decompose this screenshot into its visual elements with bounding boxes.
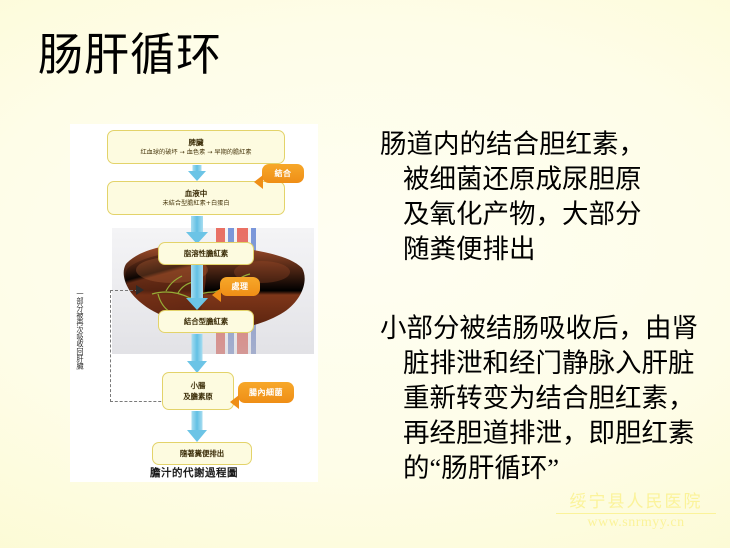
callout-tail-icon xyxy=(212,288,221,302)
diagram-box-spleen: 脾臟 红血球的破坏 → 血色素 → 早期的膽紅素 xyxy=(107,130,285,164)
paragraph1-line-3: 及氧化产物，大部分 xyxy=(380,197,692,232)
recycle-path-bottom xyxy=(110,401,166,402)
recycle-path-vertical xyxy=(110,290,111,402)
diagram-box-feces-excretion: 隨著糞便排出 xyxy=(152,442,252,465)
bile-metabolism-diagram: 一部分被再次吸收回肝臟 脾臟 红血球的破坏 → 血色素 → 早期的膽紅素 xyxy=(70,124,318,482)
intestine-box-subtitle: 及膽素原 xyxy=(183,391,213,402)
lipophilic-box-title: 脂溶性膽紅素 xyxy=(184,248,228,259)
diagram-box-conjugated-bilirubin: 結合型膽紅素 xyxy=(158,310,254,333)
spleen-box-title: 脾臟 xyxy=(189,137,204,148)
paragraph1-line-1: 肠道内的结合胆红素， xyxy=(380,127,692,162)
paragraph2-line-3: 重新转变为结合胆红素， xyxy=(380,381,692,416)
recycle-path-label: 一部分被再次吸收回肝臟 xyxy=(76,290,85,369)
callout-processing-label: 處理 xyxy=(232,281,249,292)
arrow-blood-to-liver xyxy=(186,216,208,244)
diagram-box-lipophilic-bilirubin: 脂溶性膽紅素 xyxy=(158,242,254,265)
arrow-liver-to-intestine xyxy=(186,334,208,373)
blood-box-title: 血液中 xyxy=(185,188,208,199)
callout-tail-icon xyxy=(230,395,239,409)
paragraph1-line-2: 被细菌还原成尿胆原 xyxy=(380,162,692,197)
paragraph2-line-4: 再经胆道排泄，即胆红素 xyxy=(380,416,692,451)
diagram-caption: 膽汁的代謝過程圖 xyxy=(70,465,318,480)
callout-gut-bacteria-label: 腸內細菌 xyxy=(249,387,283,398)
blood-box-subtitle: 未結合型膽紅素+白蛋白 xyxy=(162,199,229,209)
slide-canvas: 肠肝循环 肠道内的结合胆红素， 被细菌还原成尿胆原 及氧化产物，大部分 随粪便排… xyxy=(0,0,730,548)
arrow-intestine-to-feces xyxy=(186,411,208,442)
callout-processing: 處理 xyxy=(220,277,260,296)
intestine-box-title: 小腸 xyxy=(191,380,206,391)
watermark-url: www.snrmyy.cn xyxy=(556,515,716,531)
recycle-arrow-icon xyxy=(136,285,144,295)
paragraph1-line-4: 随粪便排出 xyxy=(380,232,692,267)
paragraph2-line-1: 小部分被结肠吸收后，由肾 xyxy=(380,311,692,346)
watermark: 绥宁县人民医院 www.snrmyy.cn xyxy=(556,492,716,531)
paragraph2-line-2: 脏排泄和经门静脉入肝脏 xyxy=(380,346,692,381)
body-paragraph-1: 肠道内的结合胆红素， 被细菌还原成尿胆原 及氧化产物，大部分 随粪便排出 xyxy=(380,127,692,267)
watermark-hospital-name: 绥宁县人民医院 xyxy=(556,492,716,512)
feces-box-title: 隨著糞便排出 xyxy=(180,448,224,459)
callout-conjugation-label: 結合 xyxy=(275,168,292,179)
page-title: 肠肝循环 xyxy=(38,32,222,79)
callout-tail-icon xyxy=(254,175,263,189)
spleen-box-subtitle: 红血球的破坏 → 血色素 → 早期的膽紅素 xyxy=(140,148,251,158)
recycle-path-top xyxy=(110,290,138,291)
arrow-lipophilic-to-conjugated xyxy=(186,265,208,311)
conjugated-box-title: 結合型膽紅素 xyxy=(184,316,228,327)
body-paragraph-2: 小部分被结肠吸收后，由肾 脏排泄和经门静脉入肝脏 重新转变为结合胆红素， 再经胆… xyxy=(380,311,692,486)
callout-gut-bacteria: 腸內細菌 xyxy=(238,382,294,403)
diagram-box-small-intestine: 小腸 及膽素原 xyxy=(162,372,234,410)
watermark-divider xyxy=(556,513,716,514)
arrow-spleen-to-blood xyxy=(186,165,208,181)
paragraph2-line-5: 的“肠肝循环” xyxy=(380,451,692,486)
callout-conjugation: 結合 xyxy=(262,164,304,183)
